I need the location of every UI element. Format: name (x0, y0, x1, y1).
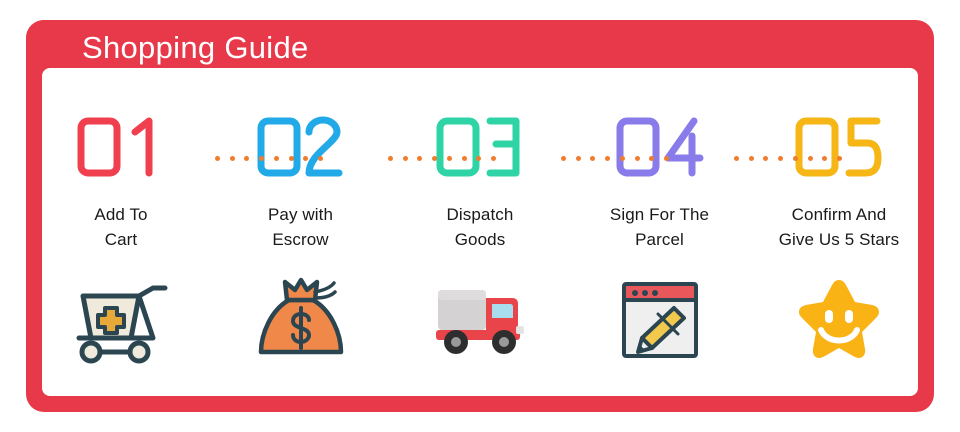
step-03: Dispatch Goods (401, 68, 559, 396)
step-label-02-line1: Pay with (217, 202, 385, 227)
connector-dot (289, 156, 294, 161)
step-number-02 (255, 116, 347, 178)
connector-dot (649, 156, 654, 161)
connector-04-05 (734, 155, 842, 161)
step-label-04-line1: Sign For The (576, 202, 744, 227)
connector-dot (215, 156, 220, 161)
connector-dot (635, 156, 640, 161)
step-label-03-line2: Goods (396, 227, 564, 252)
step-number-01 (75, 116, 167, 178)
step-label-05-line2: Give Us 5 Stars (755, 227, 923, 252)
connector-dot (388, 156, 393, 161)
step-label-05-line1: Confirm And (755, 202, 923, 227)
connector-dot (303, 156, 308, 161)
connector-dot (778, 156, 783, 161)
connector-01-02 (215, 155, 323, 161)
browser-pencil-icon (605, 272, 715, 368)
connector-dot (576, 156, 581, 161)
shopping-cart-icon (66, 272, 176, 368)
step-01: Add To Cart (42, 68, 200, 396)
step-label-02-line2: Escrow (217, 227, 385, 252)
connector-dot (590, 156, 595, 161)
connector-dot (620, 156, 625, 161)
connector-02-03 (388, 155, 496, 161)
money-bag-icon (246, 272, 356, 368)
connector-dot (749, 156, 754, 161)
step-label-02: Pay with Escrow (217, 202, 385, 252)
connector-dot (561, 156, 566, 161)
connector-dot (259, 156, 264, 161)
step-number-03 (434, 116, 526, 178)
step-label-01-line2: Cart (37, 227, 205, 252)
connector-dot (318, 156, 323, 161)
connector-dot (274, 156, 279, 161)
connector-03-04 (561, 155, 669, 161)
connector-dot (734, 156, 739, 161)
step-05: Confirm And Give Us 5 Stars (760, 68, 918, 396)
connector-dot (417, 156, 422, 161)
step-02: Pay with Escrow (222, 68, 380, 396)
connector-dot (605, 156, 610, 161)
connector-dot (793, 156, 798, 161)
connector-dot (808, 156, 813, 161)
step-label-05: Confirm And Give Us 5 Stars (755, 202, 923, 252)
step-number-04 (614, 116, 706, 178)
smiling-star-icon (784, 272, 894, 368)
step-label-03: Dispatch Goods (396, 202, 564, 252)
step-label-01-line1: Add To (37, 202, 205, 227)
connector-dot (476, 156, 481, 161)
connector-dot (230, 156, 235, 161)
connector-dot (403, 156, 408, 161)
step-label-03-line1: Dispatch (396, 202, 564, 227)
connector-dot (244, 156, 249, 161)
connector-dot (491, 156, 496, 161)
connector-dot (447, 156, 452, 161)
step-number-05 (793, 116, 885, 178)
page-title: Shopping Guide (82, 28, 352, 68)
step-04: Sign For The Parcel (581, 68, 739, 396)
connector-dot (432, 156, 437, 161)
step-label-01: Add To Cart (37, 202, 205, 252)
connector-dot (664, 156, 669, 161)
connector-dot (462, 156, 467, 161)
delivery-truck-icon (425, 272, 535, 368)
step-label-04: Sign For The Parcel (576, 202, 744, 252)
shopping-guide-banner: Shopping Guide Add To Cart (0, 0, 960, 432)
step-label-04-line2: Parcel (576, 227, 744, 252)
connector-dot (763, 156, 768, 161)
connector-dot (822, 156, 827, 161)
steps-row: Add To Cart (42, 68, 918, 396)
connector-dot (837, 156, 842, 161)
